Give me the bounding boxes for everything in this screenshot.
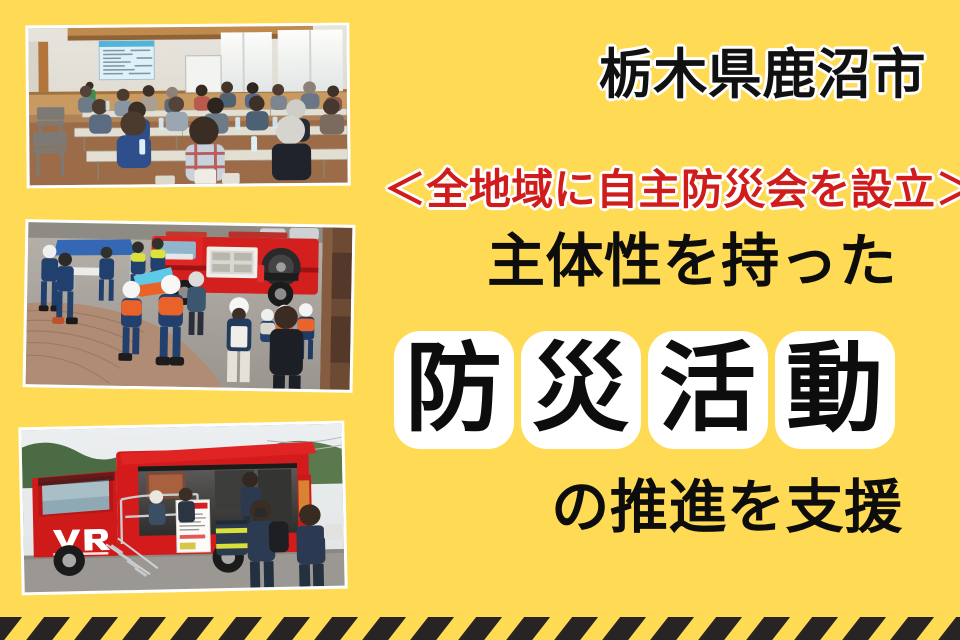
hazard-stripe-bar xyxy=(496,617,558,640)
photo-vr-truck xyxy=(18,421,347,596)
hazard-stripe-bar xyxy=(688,617,750,640)
lecture-room-illustration xyxy=(28,26,347,186)
kanji-char-sai: 災 xyxy=(532,340,630,437)
hazard-stripe-bar xyxy=(640,617,702,640)
kanji-box-dou: 動 xyxy=(775,331,895,449)
headline-line-1: 主体性を持った xyxy=(432,232,952,290)
photo-lecture-meeting-image xyxy=(28,26,347,186)
hazard-stripe-bar xyxy=(448,617,510,640)
hazard-stripe-bar xyxy=(208,617,270,640)
subtitle-banner: ＜全地域に自主防災会を設立＞ xyxy=(384,168,948,212)
hazard-stripe-bar xyxy=(112,617,174,640)
poster-canvas: 栃木県鹿沼市 ＜全地域に自主防災会を設立＞ 主体性を持った 防 災 活 動 の推… xyxy=(0,0,960,640)
vr-truck-illustration xyxy=(21,424,344,593)
city-title: 栃木県鹿沼市 xyxy=(599,48,926,102)
hazard-stripe-bar xyxy=(400,617,462,640)
kanji-box-bou: 防 xyxy=(394,331,514,449)
photo-rescue-drill-image xyxy=(26,222,353,390)
rescue-drill-illustration xyxy=(26,222,353,390)
hazard-stripe-bar xyxy=(160,617,222,640)
hazard-stripe-bar xyxy=(880,617,942,640)
hazard-stripe-bar xyxy=(592,617,654,640)
hazard-stripe xyxy=(0,617,960,640)
hazard-stripe-bar xyxy=(832,617,894,640)
hazard-stripe-bar xyxy=(928,617,960,640)
photo-rescue-drill xyxy=(23,219,356,393)
kanji-char-katsu: 活 xyxy=(659,340,757,437)
kanji-char-bou: 防 xyxy=(405,340,503,437)
hazard-stripe-bar xyxy=(64,617,126,640)
kanji-box-katsu: 活 xyxy=(648,331,768,449)
kanji-box-sai: 災 xyxy=(521,331,641,449)
headline-line-2: の推進を支援 xyxy=(502,478,952,536)
hazard-stripe-bar xyxy=(544,617,606,640)
hazard-stripe-bar xyxy=(352,617,414,640)
hazard-stripe-bar xyxy=(304,617,366,640)
photo-lecture-meeting xyxy=(25,23,350,189)
hazard-stripe-bar xyxy=(784,617,846,640)
kanji-box-group: 防 災 活 動 xyxy=(394,331,895,449)
hazard-stripe-bar xyxy=(16,617,78,640)
hazard-stripe-bar xyxy=(256,617,318,640)
hazard-stripe-bar xyxy=(0,617,30,640)
kanji-char-dou: 動 xyxy=(786,340,884,437)
hazard-stripe-bar xyxy=(736,617,798,640)
text-column: 栃木県鹿沼市 ＜全地域に自主防災会を設立＞ 主体性を持った 防 災 活 動 の推… xyxy=(372,0,960,640)
photo-vr-truck-image xyxy=(21,424,344,593)
